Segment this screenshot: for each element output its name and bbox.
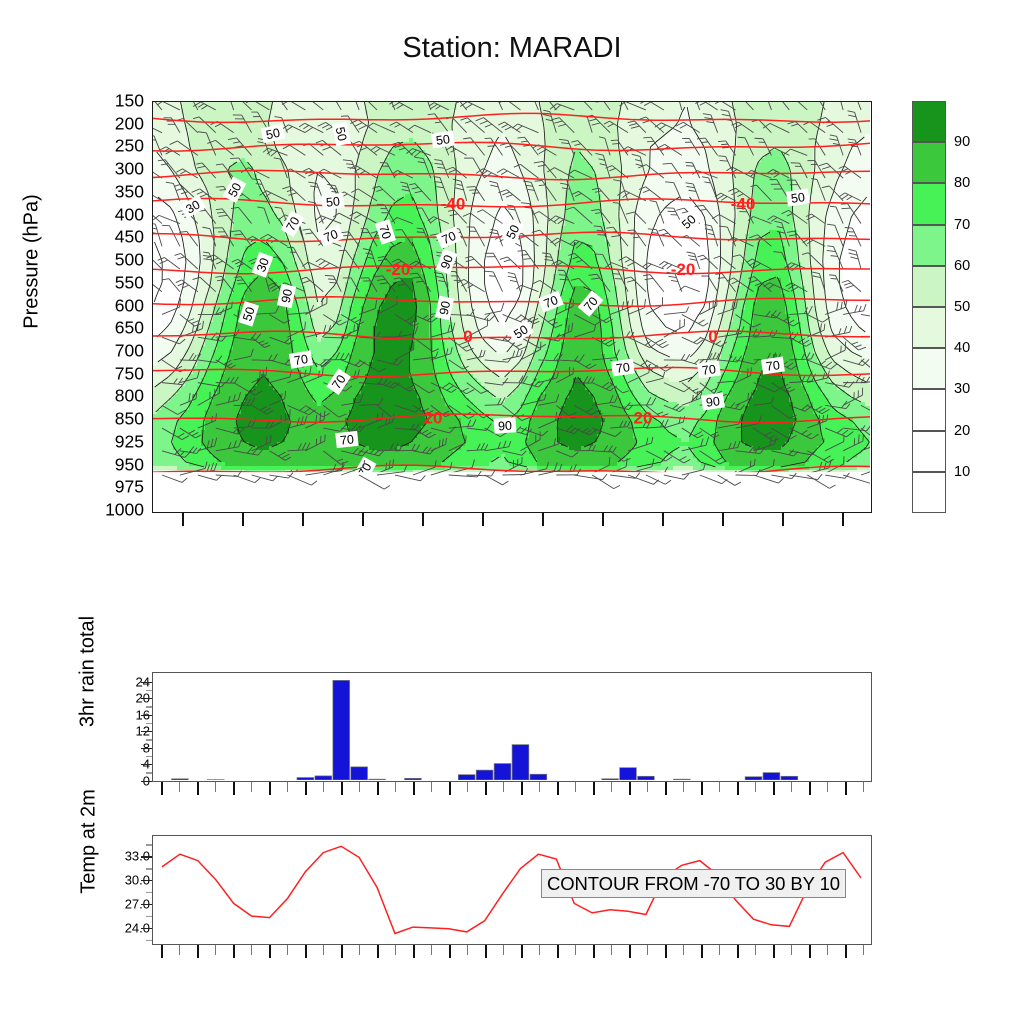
x-tick	[683, 945, 684, 955]
x-tick	[755, 782, 756, 792]
x-tick	[665, 782, 667, 795]
x-tick	[362, 513, 364, 526]
x-tick	[557, 782, 559, 795]
colorbar-cell[interactable]	[912, 431, 946, 472]
x-tick	[449, 782, 451, 795]
x-tick	[575, 782, 576, 792]
x-tick	[305, 945, 307, 958]
x-tick	[341, 945, 343, 958]
temp-tickmark	[141, 904, 152, 905]
x-tick	[809, 945, 811, 958]
x-tick	[719, 782, 720, 792]
pressure-tick-200: 200	[74, 115, 144, 133]
pressure-tick-925: 925	[74, 433, 144, 451]
x-tick	[701, 782, 703, 795]
x-tick	[782, 513, 784, 526]
rain-tickmark	[141, 748, 152, 749]
x-tick	[842, 513, 844, 526]
x-tick	[629, 782, 631, 795]
x-tick	[521, 782, 523, 795]
x-tick	[827, 945, 828, 955]
colorbar-label-90: 90	[954, 135, 970, 150]
x-tick	[242, 513, 244, 526]
x-tick	[413, 782, 415, 795]
x-tick	[611, 782, 612, 792]
x-tick	[773, 945, 775, 958]
temp-tickmark	[141, 856, 152, 857]
contour-plot-panel[interactable]: -40-40-20-200020205050503050507070707030…	[152, 101, 872, 513]
x-tick	[845, 945, 847, 958]
x-tick	[737, 945, 739, 958]
colorbar-cell[interactable]	[912, 142, 946, 183]
colorbar-cell[interactable]	[912, 266, 946, 307]
rain-bars-svg	[153, 673, 870, 780]
page-title: Station: MARADI	[0, 32, 1024, 65]
x-tick	[521, 945, 523, 958]
pressure-axis-label: Pressure (hPa)	[21, 132, 44, 392]
colorbar-cell[interactable]	[912, 225, 946, 266]
pressure-tick-800: 800	[74, 388, 144, 406]
x-tick	[161, 782, 163, 795]
x-tick	[215, 945, 216, 955]
rain-tickmark	[141, 764, 152, 765]
colorbar-label-20: 20	[954, 423, 970, 438]
colorbar-label-60: 60	[954, 259, 970, 274]
x-tick	[413, 945, 415, 958]
x-tick	[269, 782, 271, 795]
x-tick	[737, 782, 739, 795]
contour-plot-svg: -40-40-20-200020205050503050507070707030…	[153, 102, 870, 511]
pressure-tick-650: 650	[74, 319, 144, 337]
pressure-tick-350: 350	[74, 183, 144, 201]
x-tick	[359, 782, 360, 792]
colorbar-label-50: 50	[954, 300, 970, 315]
x-tick	[431, 782, 432, 792]
x-tick	[593, 945, 595, 958]
colorbar-label-30: 30	[954, 382, 970, 397]
x-tick	[233, 782, 235, 795]
x-tick	[395, 945, 396, 955]
x-tick	[197, 945, 199, 958]
x-tick	[341, 782, 343, 795]
colorbar-cell[interactable]	[912, 183, 946, 224]
pressure-tick-250: 250	[74, 138, 144, 156]
x-tick	[182, 513, 184, 526]
x-tick	[557, 945, 559, 958]
colorbar-cell[interactable]	[912, 307, 946, 348]
x-tick	[791, 945, 792, 955]
x-tick	[359, 945, 360, 955]
colorbar-label-40: 40	[954, 341, 970, 356]
pressure-tick-950: 950	[74, 456, 144, 474]
x-tick	[251, 945, 252, 955]
rain-tickmark	[141, 781, 152, 782]
pressure-tick-750: 750	[74, 365, 144, 383]
x-tick	[467, 945, 468, 955]
x-tick	[791, 782, 792, 792]
pressure-tick-975: 975	[74, 479, 144, 497]
x-tick	[539, 782, 540, 792]
pressure-tick-550: 550	[74, 274, 144, 292]
x-tick	[197, 782, 199, 795]
pressure-tick-150: 150	[74, 92, 144, 110]
x-tick	[539, 945, 540, 955]
temp-tick-labels: 24.027.030.033.0	[74, 835, 152, 945]
rain-x-axis-ticks	[152, 782, 872, 795]
x-tick	[482, 513, 484, 526]
x-tick	[593, 782, 595, 795]
pressure-tick-400: 400	[74, 206, 144, 224]
pressure-tick-1000: 1000	[74, 501, 144, 519]
x-tick	[542, 513, 544, 526]
x-tick	[485, 782, 487, 795]
x-tick	[302, 513, 304, 526]
x-tick	[863, 945, 864, 955]
x-tick	[647, 782, 648, 792]
x-tick	[845, 782, 847, 795]
colorbar-cell[interactable]	[912, 101, 946, 142]
pressure-tick-600: 600	[74, 297, 144, 315]
pressure-tick-850: 850	[74, 410, 144, 428]
x-tick	[233, 945, 235, 958]
colorbar[interactable]: 908070605040302010	[912, 101, 946, 513]
colorbar-label-10: 10	[954, 465, 970, 480]
pressure-tick-500: 500	[74, 251, 144, 269]
x-tick	[863, 782, 864, 792]
x-tick	[269, 945, 271, 958]
x-tick	[722, 513, 724, 526]
x-tick	[377, 945, 379, 958]
x-tick	[602, 513, 604, 526]
x-tick	[287, 945, 288, 955]
rain-tickmark	[141, 698, 152, 699]
x-tick	[422, 513, 424, 526]
x-tick	[503, 782, 504, 792]
x-tick	[395, 782, 396, 792]
colorbar-cell[interactable]	[912, 472, 946, 513]
x-tick	[701, 945, 703, 958]
x-tick	[662, 513, 664, 526]
x-tick	[467, 782, 468, 792]
x-tick	[647, 945, 648, 955]
colorbar-cell[interactable]	[912, 389, 946, 430]
x-tick	[161, 945, 163, 958]
x-tick	[449, 945, 451, 958]
x-tick	[683, 782, 684, 792]
x-tick	[251, 782, 252, 792]
x-tick	[287, 782, 288, 792]
pressure-tick-300: 300	[74, 160, 144, 178]
rain-bars	[172, 680, 798, 780]
x-tick	[179, 945, 180, 955]
x-tick	[827, 782, 828, 792]
pressure-tick-450: 450	[74, 229, 144, 247]
temp-x-axis-ticks	[152, 945, 872, 958]
x-tick	[611, 945, 612, 955]
x-tick	[629, 945, 631, 958]
x-tick	[665, 945, 667, 958]
rain-plot-panel[interactable]	[152, 672, 872, 782]
colorbar-label-70: 70	[954, 217, 970, 232]
x-tick	[431, 945, 432, 955]
temp-tickmark	[141, 880, 152, 881]
x-tick	[809, 782, 811, 795]
contour-x-axis-ticks	[152, 513, 872, 526]
x-tick	[755, 945, 756, 955]
x-tick	[215, 782, 216, 792]
pressure-tick-700: 700	[74, 342, 144, 360]
x-tick	[377, 782, 379, 795]
x-tick	[485, 945, 487, 958]
x-tick	[179, 782, 180, 792]
x-tick	[323, 782, 324, 792]
rain-tickmark	[141, 682, 152, 683]
x-tick	[575, 945, 576, 955]
rain-tickmark	[141, 715, 152, 716]
x-tick	[719, 945, 720, 955]
colorbar-label-80: 80	[954, 176, 970, 191]
x-tick	[503, 945, 504, 955]
x-tick	[323, 945, 324, 955]
x-tick	[773, 782, 775, 795]
rain-tickmark	[141, 731, 152, 732]
contour-annotation: CONTOUR FROM -70 TO 30 BY 10	[541, 869, 846, 898]
temp-tickmark	[141, 928, 152, 929]
x-tick	[305, 782, 307, 795]
pressure-tick-labels: 1502002503003504004505005506006507007508…	[66, 101, 144, 513]
colorbar-cell[interactable]	[912, 348, 946, 389]
